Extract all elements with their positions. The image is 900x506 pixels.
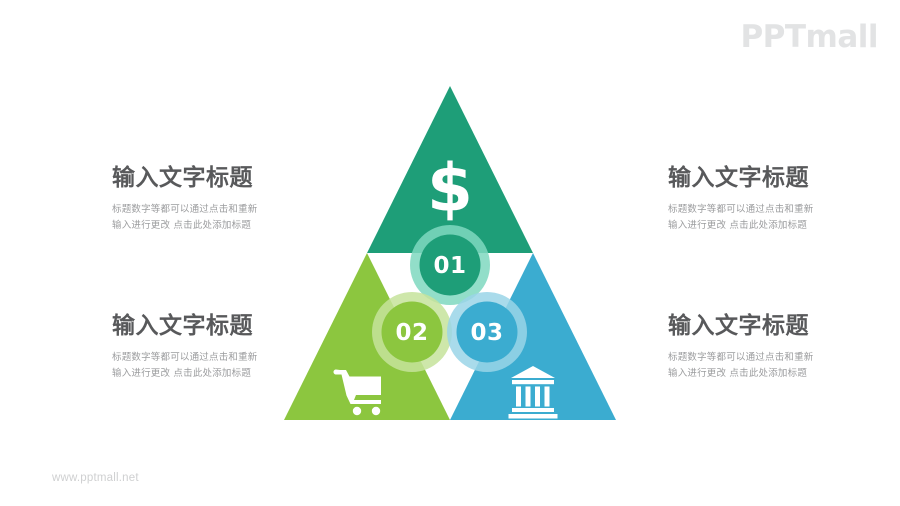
- description-line-1: 标题数字等都可以通过点击和重新: [668, 352, 814, 363]
- description-line-1: 标题数字等都可以通过点击和重新: [112, 204, 258, 215]
- dollar-sign-icon: $: [427, 150, 473, 227]
- text-block-description: 标题数字等都可以通过点击和重新 输入进行更改 点击此处添加标题: [668, 202, 900, 235]
- badge-01-number: 01: [433, 253, 466, 279]
- badge-03[interactable]: 03: [447, 292, 527, 372]
- description-line-2: 输入进行更改 点击此处添加标题: [668, 368, 807, 379]
- description-line-2: 输入进行更改 点击此处添加标题: [112, 220, 251, 231]
- text-block-bottom-right: 输入文字标题 标题数字等都可以通过点击和重新 输入进行更改 点击此处添加标题: [668, 312, 900, 383]
- triangle-diagram: $: [262, 70, 638, 440]
- badge-02[interactable]: 02: [372, 292, 452, 372]
- text-block-top-right: 输入文字标题 标题数字等都可以通过点击和重新 输入进行更改 点击此处添加标题: [668, 164, 900, 235]
- footer-url: www.pptmall.net: [52, 472, 139, 484]
- text-block-title: 输入文字标题: [668, 312, 900, 341]
- text-block-description: 标题数字等都可以通过点击和重新 输入进行更改 点击此处添加标题: [668, 350, 900, 383]
- description-line-1: 标题数字等都可以通过点击和重新: [112, 352, 258, 363]
- text-block-title: 输入文字标题: [668, 164, 900, 193]
- badge-01[interactable]: 01: [410, 225, 490, 305]
- description-line-1: 标题数字等都可以通过点击和重新: [668, 204, 814, 215]
- badge-03-number: 03: [470, 320, 503, 346]
- pptmall-logo: PPTmall: [740, 22, 878, 53]
- svg-text:$: $: [427, 150, 473, 227]
- description-line-2: 输入进行更改 点击此处添加标题: [668, 220, 807, 231]
- description-line-2: 输入进行更改 点击此处添加标题: [112, 368, 251, 379]
- slide-canvas: PPTmall 输入文字标题 标题数字等都可以通过点击和重新 输入进行更改 点击…: [0, 0, 900, 506]
- badge-02-number: 02: [395, 320, 428, 346]
